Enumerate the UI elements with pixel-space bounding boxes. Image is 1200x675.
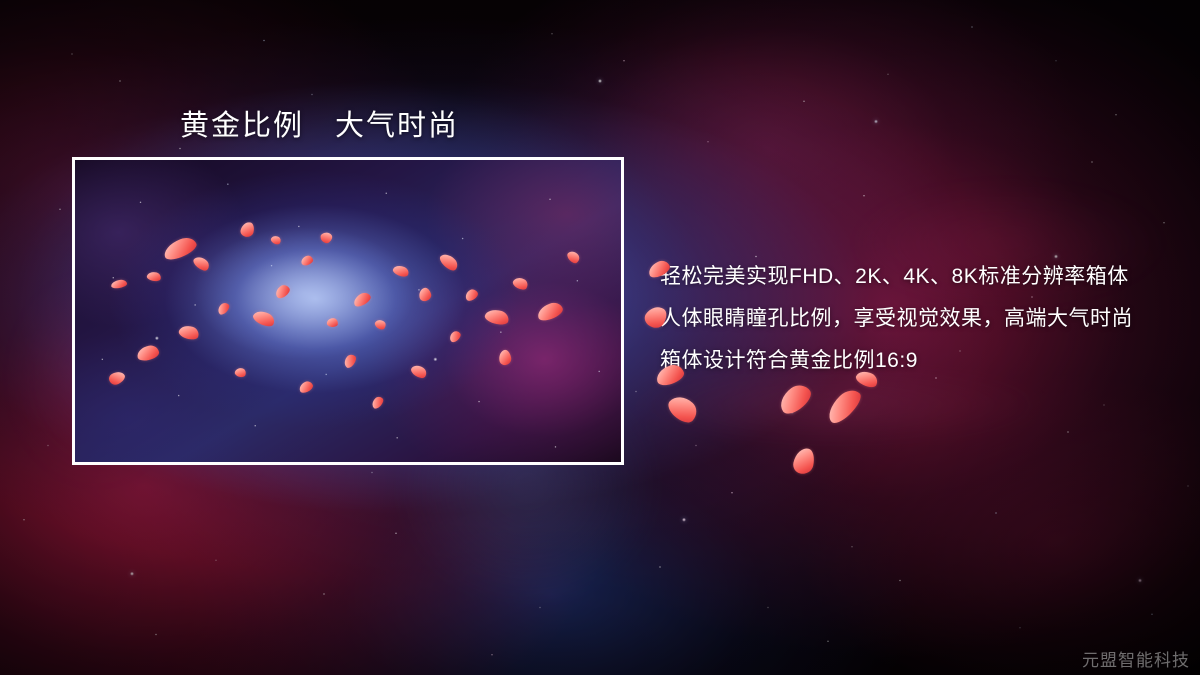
page-title: 黄金比例 大气时尚 — [180, 102, 459, 144]
body-copy: 轻松完美实现FHD、2K、4K、8K标准分辨率箱体 人体眼睛瞳孔比例，享受视觉效… — [660, 256, 1180, 382]
body-line-3: 箱体设计符合黄金比例16:9 — [660, 340, 1180, 382]
body-line-2: 人体眼睛瞳孔比例，享受视觉效果，高端大气时尚 — [660, 298, 1180, 340]
watermark: 元盟智能科技 — [1082, 646, 1190, 671]
body-line-1: 轻松完美实现FHD、2K、4K、8K标准分辨率箱体 — [660, 256, 1180, 298]
presentation-slide: 黄金比例 大气时尚 — [0, 0, 1200, 675]
framed-image — [72, 157, 624, 465]
